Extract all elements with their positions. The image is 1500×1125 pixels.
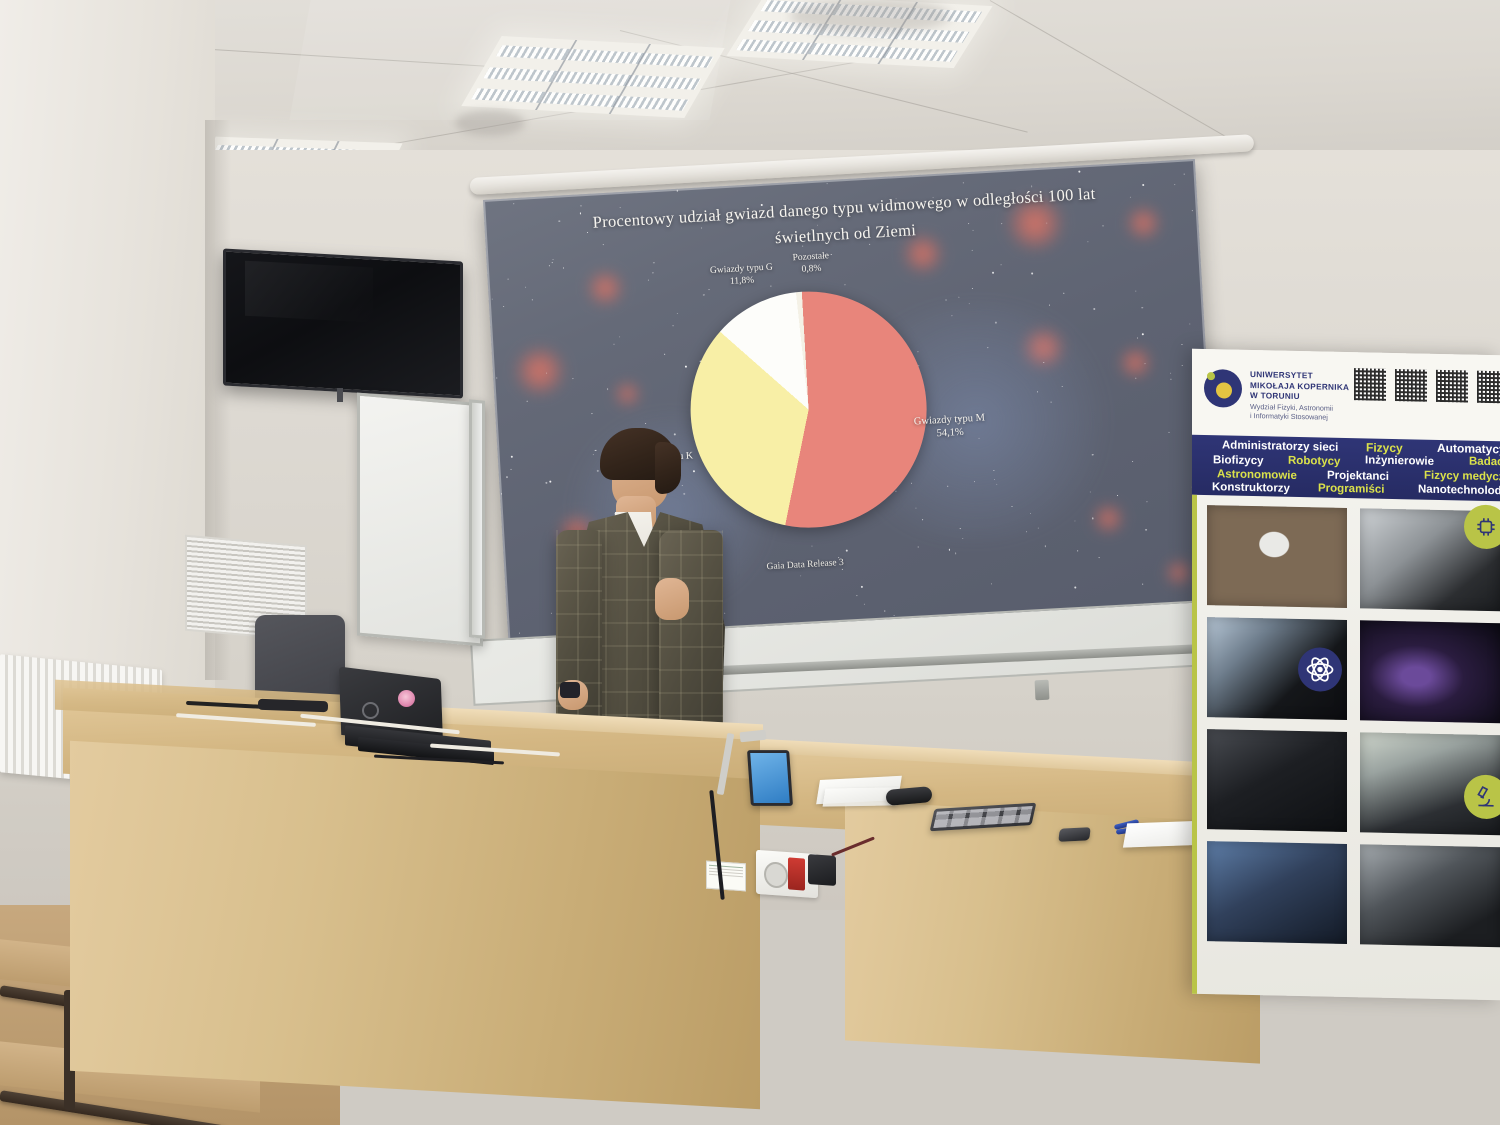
profession-word: Administratorzy sieci xyxy=(1222,440,1338,454)
banner-photo-optical-bench xyxy=(1360,844,1500,947)
profession-word: Badacze xyxy=(1469,457,1500,469)
ceiling-stain xyxy=(455,110,525,136)
qr-code[interactable] xyxy=(1395,369,1427,402)
whiteboard-tray-bracket xyxy=(1035,680,1050,701)
smartphone[interactable] xyxy=(1058,827,1091,842)
qr-code[interactable] xyxy=(1436,370,1468,403)
tablet-screen[interactable] xyxy=(750,753,790,803)
nebula-blob xyxy=(1092,504,1126,534)
emergency-switch[interactable] xyxy=(788,857,805,890)
banner-photo-purple-optics xyxy=(1360,620,1500,723)
profession-word: Automatycy xyxy=(1437,442,1500,455)
qr-code[interactable] xyxy=(1477,371,1500,404)
university-rollup-banner: UNIWERSYTET MIKOŁAJA KOPERNIKA W TORUNIU… xyxy=(1192,349,1500,1000)
power-plug xyxy=(808,854,836,886)
laptop-sticker xyxy=(398,690,415,707)
banner-professions-strip: Administratorzy sieci Fizycy Automatycy … xyxy=(1192,435,1500,501)
ceiling-light-fixture xyxy=(461,36,724,118)
profession-word: Nanotechnolodzy xyxy=(1418,485,1500,499)
nebula-blob xyxy=(614,381,641,406)
pie-disc xyxy=(684,285,933,534)
nebula-blob xyxy=(1165,560,1192,585)
pie-chart: Gwiazdy typu G 11,8% Pozostałe 0,8% Gwia… xyxy=(673,274,948,549)
tv-mount xyxy=(337,388,343,402)
av-control-tablet[interactable] xyxy=(747,750,793,806)
profession-word: Projektanci xyxy=(1327,471,1389,484)
banner-accent-bar xyxy=(1192,495,1197,995)
profession-word: Fizycy medyczni xyxy=(1424,471,1500,484)
university-logo-icon xyxy=(1204,369,1242,408)
profession-word: Robotycy xyxy=(1288,456,1340,469)
whiteboard-edge xyxy=(469,399,485,638)
equipment-label xyxy=(706,861,746,892)
podium-front xyxy=(70,741,760,1110)
banner-photo-radio-telescope xyxy=(1207,505,1347,608)
wall-mounted-tv[interactable] xyxy=(223,249,463,399)
presenter-right-sleeve xyxy=(659,530,723,740)
qr-code[interactable] xyxy=(1354,368,1386,401)
profession-word: Astronomowie xyxy=(1217,469,1297,482)
profession-word: Inżynierowie xyxy=(1365,455,1434,468)
atom-icon xyxy=(1298,647,1342,692)
dell-logo-icon xyxy=(362,702,379,719)
nebula-blob xyxy=(585,270,625,306)
profession-word: Konstruktorzy xyxy=(1212,482,1290,495)
profession-word: Fizycy xyxy=(1366,441,1403,454)
lecture-hall-photo: Procentowy udział gwiazd danego typu wid… xyxy=(0,0,1500,1125)
nebula-blob xyxy=(1118,347,1154,379)
left-wall xyxy=(0,0,215,700)
pie-label-other: Pozostałe 0,8% xyxy=(776,249,847,277)
banner-photo-monitor xyxy=(1207,729,1347,832)
banner-photo-blue-experiment xyxy=(1207,841,1347,944)
banner-faculty-name: Wydział Fizyki, Astronomii i Informatyki… xyxy=(1250,402,1410,424)
presentation-clicker[interactable] xyxy=(560,682,580,698)
slide-caption: Gaia Data Release 3 xyxy=(766,558,844,572)
sleeve-check-pattern xyxy=(659,530,723,740)
profession-word: Biofizycy xyxy=(1213,455,1264,468)
presenter-right-hand xyxy=(655,578,689,620)
power-outlet-icon xyxy=(764,861,788,889)
nebula-blob xyxy=(512,345,569,396)
presenter-hair-side xyxy=(655,442,681,494)
profession-word: Programiści xyxy=(1318,483,1384,496)
whiteboard xyxy=(357,392,483,646)
